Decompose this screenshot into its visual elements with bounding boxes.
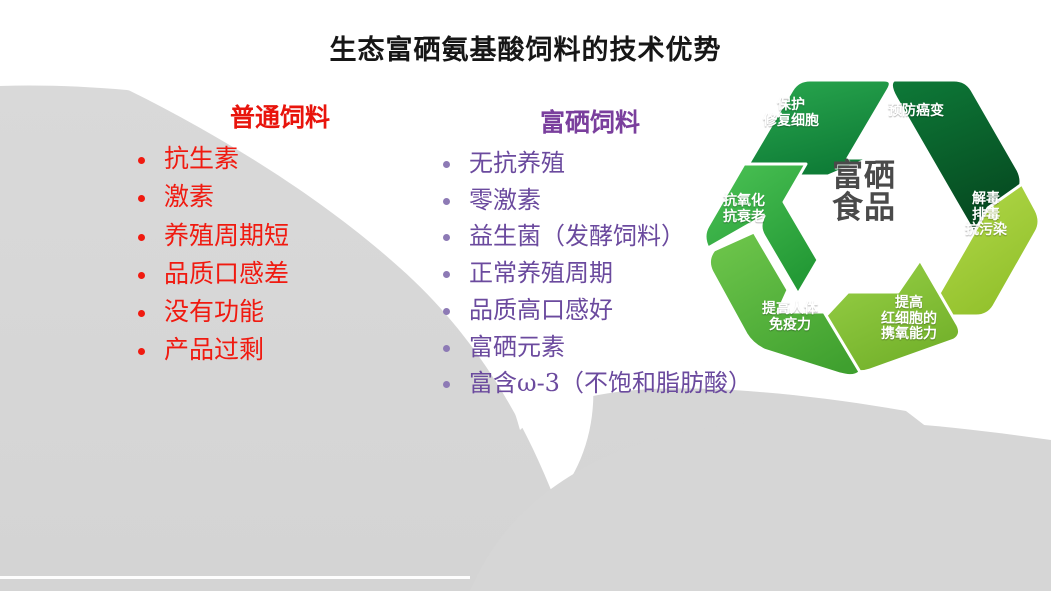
list-item: 富硒元素 xyxy=(415,329,745,366)
list-item: 养殖周期短 xyxy=(110,217,410,255)
list-item: 品质高口感好 xyxy=(415,292,745,329)
list-item: 益生菌（发酵饲料） xyxy=(415,218,745,255)
footer-divider xyxy=(0,576,470,579)
page-title: 生态富硒氨基酸饲料的技术优势 xyxy=(0,28,1051,67)
list-item: 无抗养殖 xyxy=(415,145,745,182)
column-ordinary-feed: 普通饲料 抗生素 激素 养殖周期短 品质口感差 没有功能 产品过剩 xyxy=(110,98,410,370)
ordinary-feed-list: 抗生素 激素 养殖周期短 品质口感差 没有功能 产品过剩 xyxy=(110,140,410,370)
list-item: 品质口感差 xyxy=(110,255,410,293)
list-item: 富含ω-3（不饱和脂肪酸） xyxy=(415,365,745,402)
list-item: 正常养殖周期 xyxy=(415,255,745,292)
list-item: 没有功能 xyxy=(110,293,410,331)
list-item: 零激素 xyxy=(415,182,745,219)
column-heading-selenium-feed: 富硒饲料 xyxy=(415,103,745,139)
list-item: 激素 xyxy=(110,178,410,216)
hexagon-center-line-2: 食品 xyxy=(816,192,912,224)
column-heading-ordinary-feed: 普通饲料 xyxy=(110,98,410,134)
hexagon-center-line-1: 富硒 xyxy=(816,160,912,192)
list-item: 产品过剩 xyxy=(110,331,410,369)
column-selenium-feed: 富硒饲料 无抗养殖 零激素 益生菌（发酵饲料） 正常养殖周期 品质高口感好 富硒… xyxy=(415,103,745,402)
slide-canvas: 生态富硒氨基酸饲料的技术优势 普通饲料 抗生素 激素 养殖周期短 品质口感差 没… xyxy=(0,0,1051,591)
hexagon-center-label: 富硒 食品 xyxy=(816,160,912,224)
list-item: 抗生素 xyxy=(110,140,410,178)
selenium-feed-list: 无抗养殖 零激素 益生菌（发酵饲料） 正常养殖周期 品质高口感好 富硒元素 富含… xyxy=(415,145,745,402)
